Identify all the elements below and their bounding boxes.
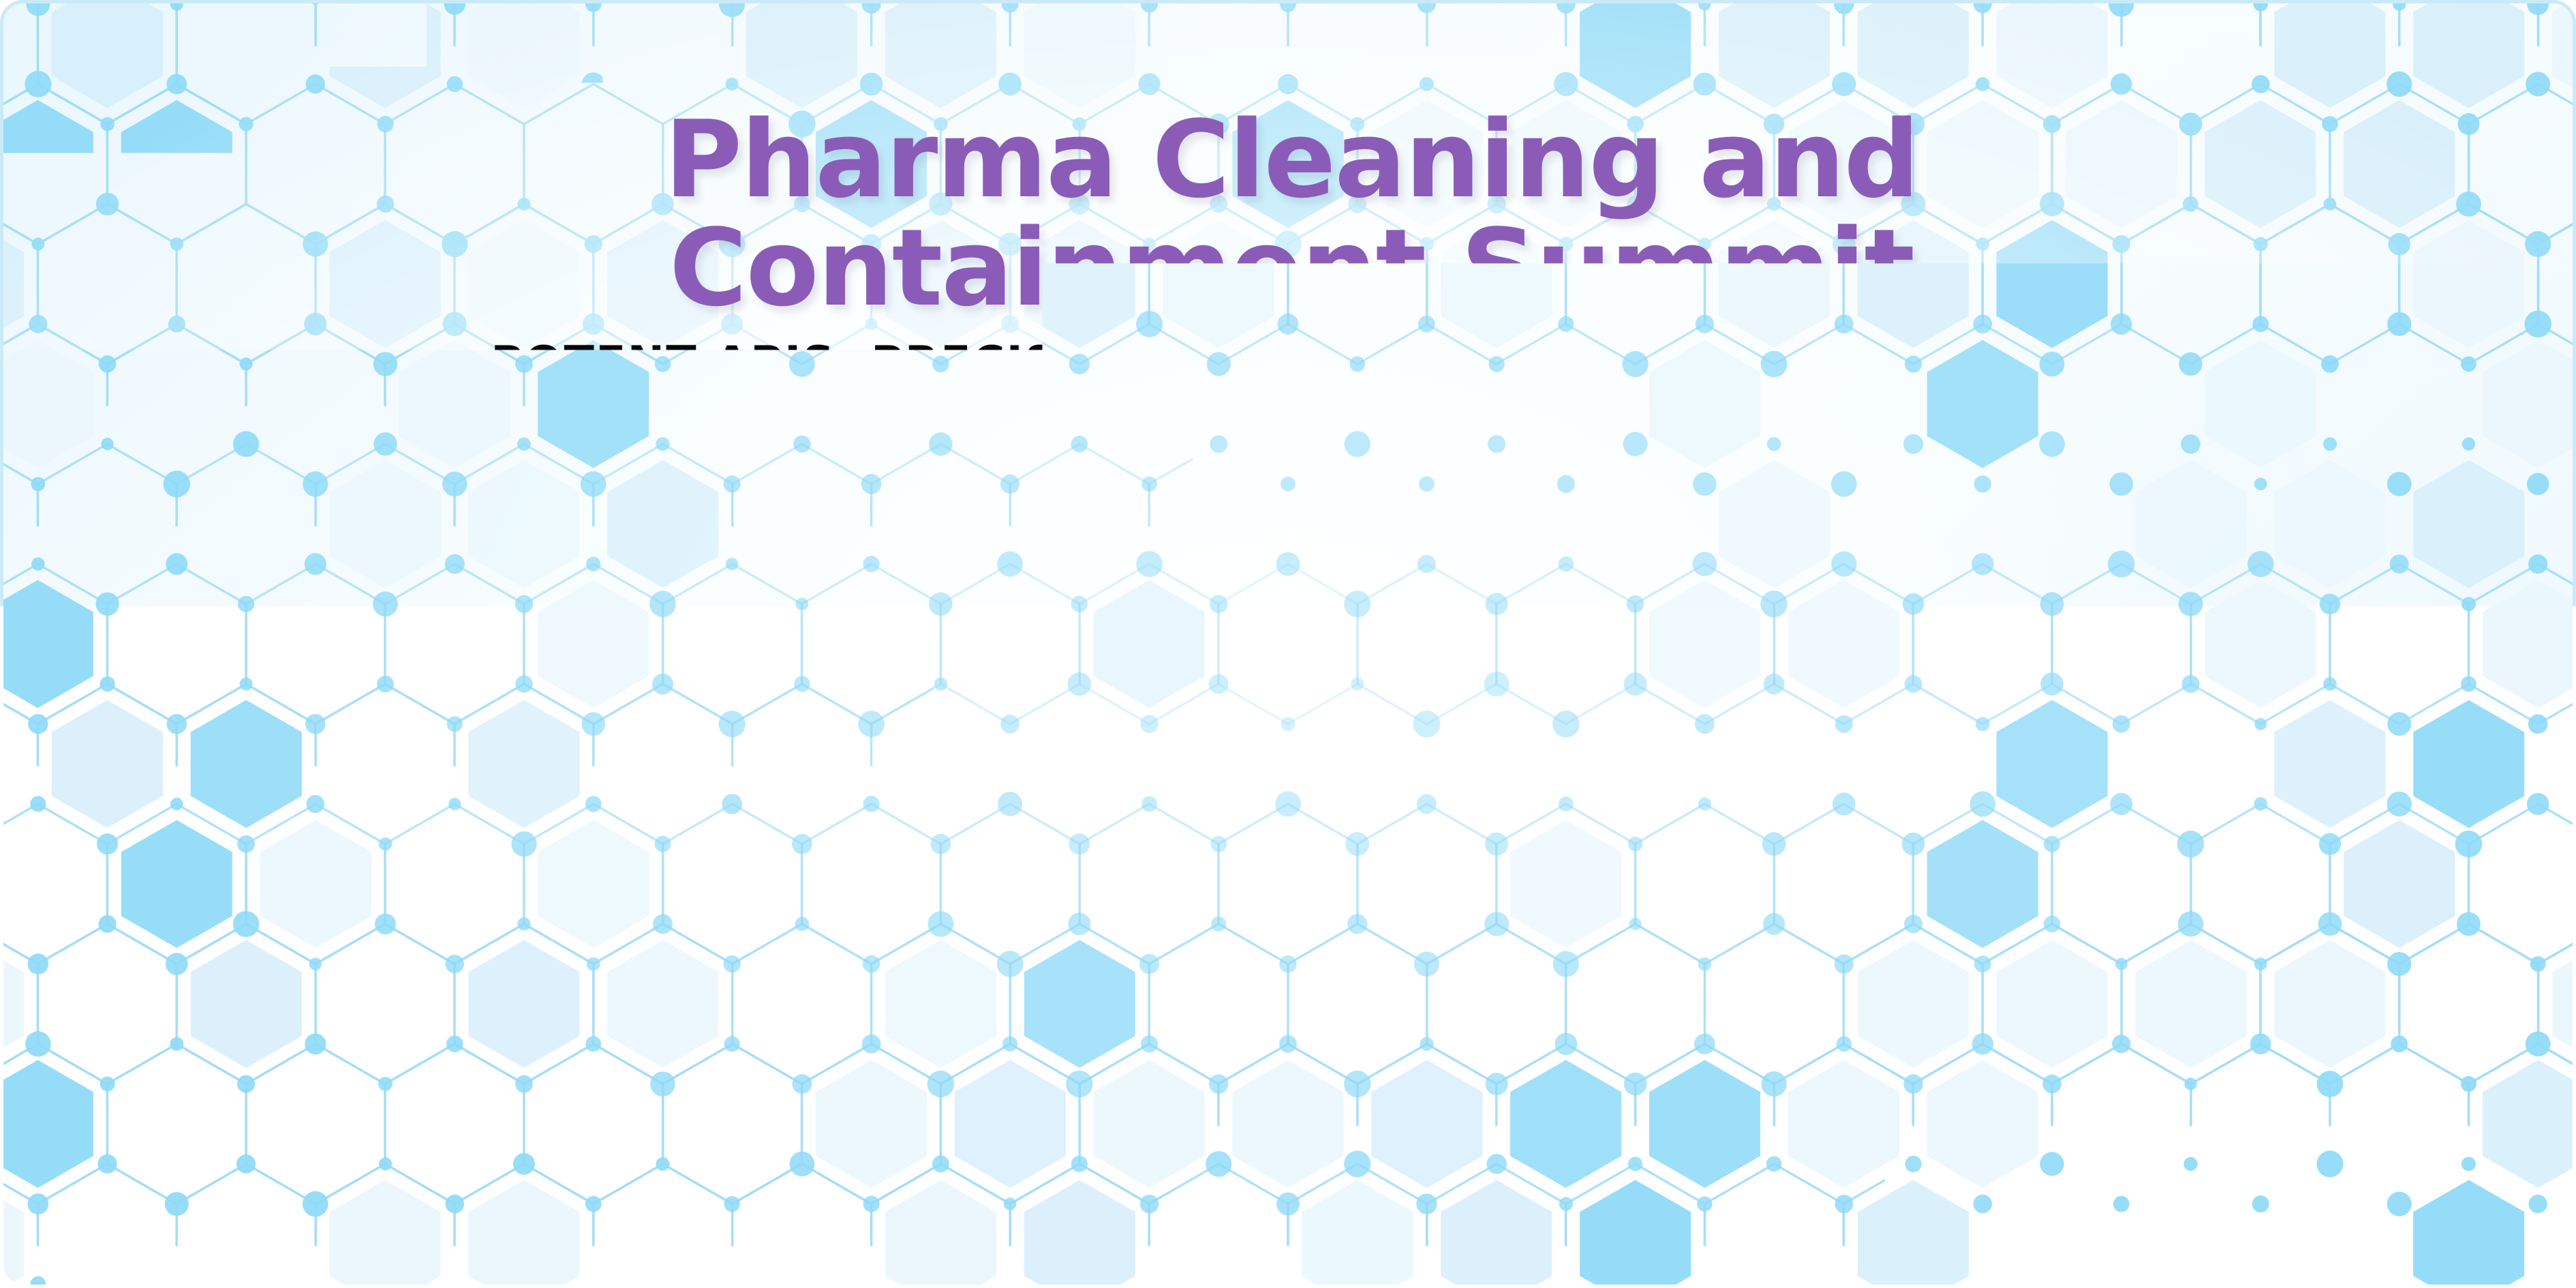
logo-tagline: BUILDING SUSTAINABLE CONNECTIONS WORLDWI… xyxy=(1997,1212,2540,1227)
event-tagline: POTENT APIS. PRECISION CLEANING. PROVEN … xyxy=(3,337,2576,388)
v-monogram-icon xyxy=(1837,1124,1974,1251)
event-title: Pharma Cleaning and Containment Summit xyxy=(3,106,2576,322)
logo-company-name: VERIDON GLOBAL xyxy=(1997,1148,2528,1198)
logo-text-wrap: VERIDON GLOBAL BUILDING SUSTAINABLE CONN… xyxy=(1997,1148,2540,1227)
event-date: 20-22 MAY 2026 xyxy=(3,746,2576,813)
event-title-line-2: Containment Summit xyxy=(3,214,2576,322)
event-title-line-1: Pharma Cleaning and xyxy=(664,97,1918,221)
title-block: Pharma Cleaning and Containment Summit P… xyxy=(3,106,2576,388)
event-location: MILAN, ITALY xyxy=(3,813,2576,880)
event-banner: Pharma Cleaning and Containment Summit P… xyxy=(0,0,2576,1288)
date-location-block: 20-22 MAY 2026 MILAN, ITALY xyxy=(3,746,2576,879)
veridon-global-logo: VERIDON GLOBAL BUILDING SUSTAINABLE CONN… xyxy=(1837,1124,2540,1251)
